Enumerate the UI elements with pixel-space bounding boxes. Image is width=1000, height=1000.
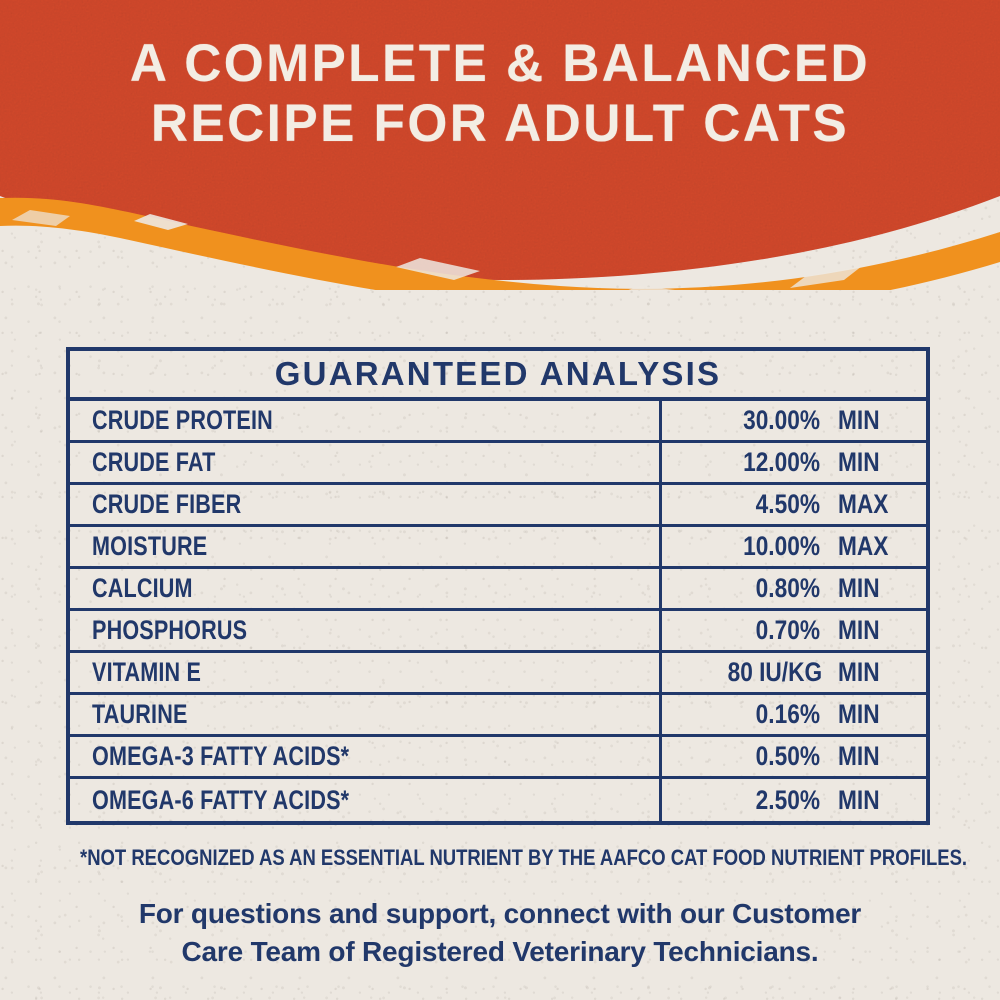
nutrient-amount: 80 IU/KG [728, 657, 820, 688]
table-row: CRUDE PROTEIN30.00%MIN [70, 401, 926, 443]
nutrient-name: TAURINE [92, 699, 188, 730]
nutrient-qualifier: MIN [838, 699, 897, 730]
nutrient-value-cell: 4.50%MAX [662, 485, 926, 524]
nutrient-qualifier: MAX [838, 531, 897, 562]
nutrient-amount: 0.80% [728, 573, 820, 604]
nutrient-name: CRUDE FIBER [92, 489, 241, 520]
nutrient-value-cell: 0.16%MIN [662, 695, 926, 734]
nutrient-name: VITAMIN E [92, 657, 201, 688]
nutrient-name-cell: OMEGA-6 FATTY ACIDS* [70, 779, 662, 821]
nutrient-amount: 2.50% [728, 785, 820, 816]
nutrient-value-cell: 80 IU/KGMIN [662, 653, 926, 692]
nutrient-name-cell: CRUDE PROTEIN [70, 401, 662, 440]
nutrient-value-cell: 0.80%MIN [662, 569, 926, 608]
nutrient-value-cell: 2.50%MIN [662, 779, 926, 821]
nutrient-name: PHOSPHORUS [92, 615, 247, 646]
nutrient-name-cell: TAURINE [70, 695, 662, 734]
nutrient-qualifier: MIN [838, 447, 897, 478]
nutrient-name: CALCIUM [92, 573, 193, 604]
nutrient-name-cell: CALCIUM [70, 569, 662, 608]
nutrient-value-cell: 10.00%MAX [662, 527, 926, 566]
table-row: VITAMIN E80 IU/KGMIN [70, 653, 926, 695]
nutrient-name-cell: CRUDE FIBER [70, 485, 662, 524]
nutrient-value-cell: 0.70%MIN [662, 611, 926, 650]
nutrient-amount: 30.00% [728, 405, 820, 436]
footnote-text: *NOT RECOGNIZED AS AN ESSENTIAL NUTRIENT… [80, 845, 920, 871]
banner-title: A COMPLETE & BALANCED RECIPE FOR ADULT C… [15, 34, 985, 154]
nutrient-name: OMEGA-6 FATTY ACIDS* [92, 785, 349, 816]
nutrient-qualifier: MIN [838, 657, 897, 688]
closing-line-2: Care Team of Registered Veterinary Techn… [60, 933, 940, 971]
nutrient-qualifier: MIN [838, 573, 897, 604]
nutrient-name-cell: VITAMIN E [70, 653, 662, 692]
table-row: PHOSPHORUS0.70%MIN [70, 611, 926, 653]
table-row: OMEGA-3 FATTY ACIDS*0.50%MIN [70, 737, 926, 779]
nutrient-value-cell: 12.00%MIN [662, 443, 926, 482]
table-header-row: GUARANTEED ANALYSIS [70, 351, 926, 401]
nutrient-amount: 12.00% [728, 447, 820, 478]
nutrient-value-cell: 0.50%MIN [662, 737, 926, 776]
nutrient-name: MOISTURE [92, 531, 207, 562]
nutrient-qualifier: MIN [838, 741, 897, 772]
nutrient-amount: 0.16% [728, 699, 820, 730]
closing-paragraph: For questions and support, connect with … [60, 895, 940, 971]
table-title: GUARANTEED ANALYSIS [275, 355, 721, 393]
nutrient-amount: 10.00% [728, 531, 820, 562]
nutrient-amount: 0.50% [728, 741, 820, 772]
table-row: CRUDE FIBER4.50%MAX [70, 485, 926, 527]
table-body: CRUDE PROTEIN30.00%MINCRUDE FAT12.00%MIN… [70, 401, 926, 821]
banner-title-line-2: RECIPE FOR ADULT CATS [15, 94, 985, 154]
nutrient-name-cell: PHOSPHORUS [70, 611, 662, 650]
guaranteed-analysis-table: GUARANTEED ANALYSIS CRUDE PROTEIN30.00%M… [66, 347, 930, 825]
nutrient-value-cell: 30.00%MIN [662, 401, 926, 440]
nutrient-amount: 0.70% [728, 615, 820, 646]
table-row: TAURINE0.16%MIN [70, 695, 926, 737]
nutrient-name-cell: CRUDE FAT [70, 443, 662, 482]
nutrient-qualifier: MIN [838, 615, 897, 646]
table-row: CALCIUM0.80%MIN [70, 569, 926, 611]
nutrient-name-cell: MOISTURE [70, 527, 662, 566]
nutrient-name: CRUDE FAT [92, 447, 215, 478]
nutrient-qualifier: MIN [838, 405, 897, 436]
nutrient-qualifier: MAX [838, 489, 897, 520]
header-banner: A COMPLETE & BALANCED RECIPE FOR ADULT C… [0, 0, 1000, 290]
closing-line-1: For questions and support, connect with … [60, 895, 940, 933]
table-row: OMEGA-6 FATTY ACIDS*2.50%MIN [70, 779, 926, 821]
nutrient-name: CRUDE PROTEIN [92, 405, 273, 436]
nutrient-name-cell: OMEGA-3 FATTY ACIDS* [70, 737, 662, 776]
table-row: MOISTURE10.00%MAX [70, 527, 926, 569]
table-row: CRUDE FAT12.00%MIN [70, 443, 926, 485]
banner-title-line-1: A COMPLETE & BALANCED [15, 34, 985, 94]
nutrient-qualifier: MIN [838, 785, 897, 816]
nutrient-name: OMEGA-3 FATTY ACIDS* [92, 741, 349, 772]
nutrient-amount: 4.50% [728, 489, 820, 520]
